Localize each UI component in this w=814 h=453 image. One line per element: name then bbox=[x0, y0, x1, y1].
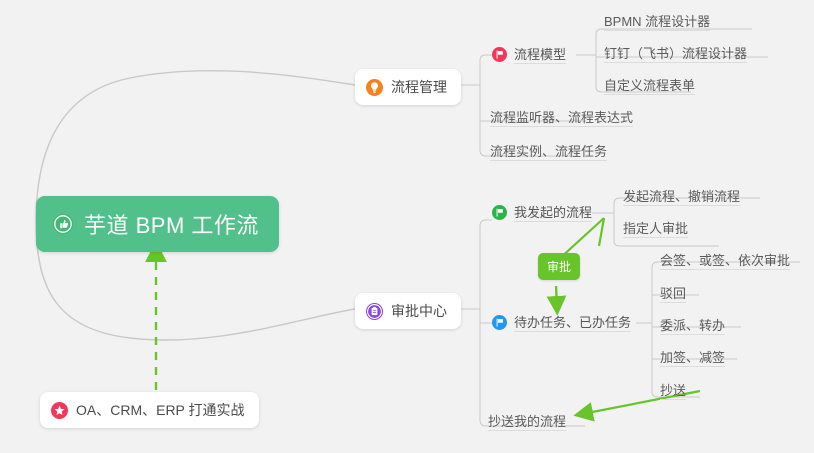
leaf-listener-expression[interactable]: 流程监听器、流程表达式 bbox=[490, 107, 633, 127]
approve-chip-label: 审批 bbox=[547, 260, 571, 274]
leaf-label: BPMN 流程设计器 bbox=[604, 11, 710, 31]
leaf-label: 加签、减签 bbox=[660, 347, 725, 367]
node-label: 我发起的流程 bbox=[514, 202, 592, 222]
node-my-started-processes[interactable]: 我发起的流程 bbox=[492, 202, 592, 225]
leaf-custom-form[interactable]: 自定义流程表单 bbox=[604, 75, 695, 95]
flag-red-icon bbox=[492, 47, 507, 62]
leaf-countersign[interactable]: 会签、或签、依次审批 bbox=[660, 250, 790, 270]
leaf-label: 会签、或签、依次审批 bbox=[660, 250, 790, 270]
leaf-bpmn-designer[interactable]: BPMN 流程设计器 bbox=[604, 11, 710, 31]
leaf-label: 委派、转办 bbox=[660, 315, 725, 335]
flag-blue-icon bbox=[492, 315, 507, 330]
branch-label: 流程管理 bbox=[391, 77, 447, 97]
leaf-label: 指定人审批 bbox=[623, 218, 688, 238]
leaf-label: 流程监听器、流程表达式 bbox=[490, 107, 633, 127]
mindmap-canvas: 芋道 BPM 工作流 OA、CRM、ERP 打通实战 流程管理 bbox=[0, 0, 814, 453]
branch-approval-center[interactable]: 审批中心 bbox=[355, 293, 461, 329]
leaf-delegate-transfer[interactable]: 委派、转办 bbox=[660, 315, 725, 335]
thumbs-up-icon bbox=[52, 213, 74, 235]
lightbulb-icon bbox=[366, 79, 383, 96]
leaf-label: 钉钉（飞书）流程设计器 bbox=[604, 43, 747, 63]
star-icon bbox=[51, 402, 68, 419]
leaf-cc-to-me[interactable]: 抄送我的流程 bbox=[488, 411, 566, 431]
clipboard-icon bbox=[366, 303, 383, 320]
node-todo-done-tasks[interactable]: 待办任务、已办任务 bbox=[492, 312, 631, 335]
node-label: 待办任务、已办任务 bbox=[514, 312, 631, 332]
flag-green-icon bbox=[492, 205, 507, 220]
root-label: 芋道 BPM 工作流 bbox=[84, 208, 259, 240]
leaf-label: 抄送 bbox=[660, 380, 686, 400]
leaf-label: 驳回 bbox=[660, 283, 686, 303]
approve-chip: 审批 bbox=[538, 253, 580, 280]
leaf-assignee-approval[interactable]: 指定人审批 bbox=[623, 218, 688, 238]
leaf-start-cancel-process[interactable]: 发起流程、撤销流程 bbox=[623, 186, 740, 206]
leaf-cc[interactable]: 抄送 bbox=[660, 380, 686, 400]
leaf-instance-task[interactable]: 流程实例、流程任务 bbox=[490, 141, 607, 161]
node-process-model[interactable]: 流程模型 bbox=[492, 44, 566, 67]
node-label: 流程模型 bbox=[514, 44, 566, 64]
leaf-add-remove-sign[interactable]: 加签、减签 bbox=[660, 347, 725, 367]
leaf-label: 自定义流程表单 bbox=[604, 75, 695, 95]
leaf-label: 抄送我的流程 bbox=[488, 411, 566, 431]
leaf-label: 发起流程、撤销流程 bbox=[623, 186, 740, 206]
leaf-reject[interactable]: 驳回 bbox=[660, 283, 686, 303]
branch-process-management[interactable]: 流程管理 bbox=[355, 69, 461, 105]
footnote-node[interactable]: OA、CRM、ERP 打通实战 bbox=[40, 392, 259, 428]
footnote-label: OA、CRM、ERP 打通实战 bbox=[76, 400, 245, 420]
leaf-label: 流程实例、流程任务 bbox=[490, 141, 607, 161]
leaf-dingtalk-designer[interactable]: 钉钉（飞书）流程设计器 bbox=[604, 43, 747, 63]
branch-label: 审批中心 bbox=[391, 301, 447, 321]
root-node[interactable]: 芋道 BPM 工作流 bbox=[36, 196, 279, 252]
